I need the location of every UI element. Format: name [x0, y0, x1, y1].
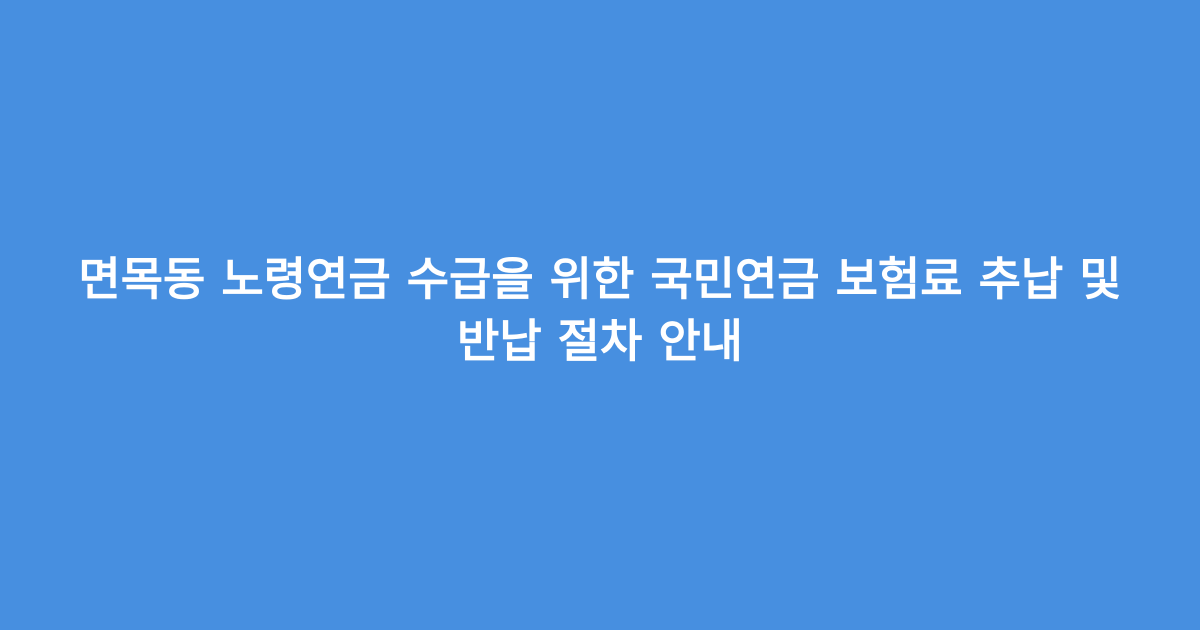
og-thumbnail-card: 면목동 노령연금 수급을 위한 국민연금 보험료 추납 및 반납 절차 안내: [0, 0, 1200, 630]
headline-block: 면목동 노령연금 수급을 위한 국민연금 보험료 추납 및 반납 절차 안내: [70, 248, 1130, 372]
page-title: 면목동 노령연금 수급을 위한 국민연금 보험료 추납 및 반납 절차 안내: [70, 248, 1130, 372]
